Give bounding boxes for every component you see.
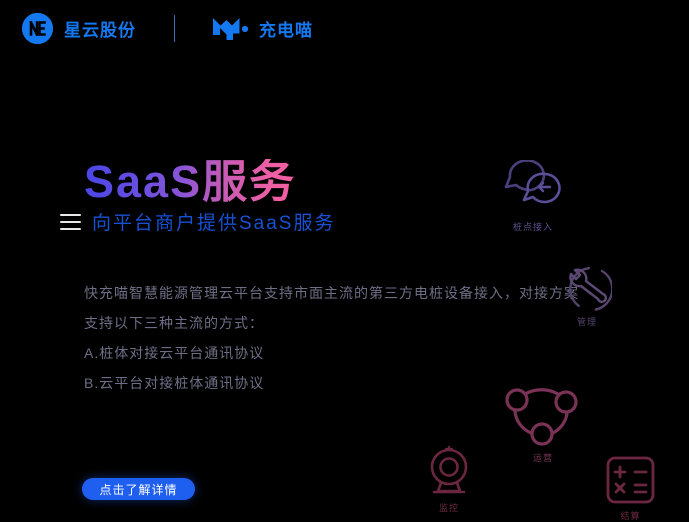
cat-mark-icon bbox=[211, 15, 251, 42]
calculator-settle-icon bbox=[605, 455, 656, 505]
learn-more-button[interactable]: 点击了解详情 bbox=[82, 478, 195, 500]
hamburger-icon[interactable] bbox=[60, 214, 81, 230]
page-subtitle: 向平台商户提供SaaS服务 bbox=[92, 208, 335, 235]
page-title: SaaS服务 bbox=[84, 159, 296, 204]
ne-monogram-icon bbox=[22, 13, 53, 44]
page-header: 星云股份 充电喵 bbox=[0, 0, 689, 56]
network-share-icon bbox=[503, 383, 583, 447]
decoration-settle: 结算 bbox=[605, 455, 656, 522]
brand-primary[interactable]: 星云股份 bbox=[22, 13, 136, 44]
decoration-pile-label: 监控 bbox=[439, 501, 459, 514]
decoration-access: 桩点接入 bbox=[500, 160, 566, 233]
body-paragraph-intro: 快充喵智慧能源管理云平台支持市面主流的第三方电桩设备接入，对接方案支持以下三种主… bbox=[84, 278, 584, 338]
subtitle-row: 向平台商户提供SaaS服务 bbox=[60, 208, 335, 235]
decoration-network-label: 运营 bbox=[533, 451, 553, 464]
brand-secondary-name: 充电喵 bbox=[259, 16, 313, 41]
decoration-manage-label: 管理 bbox=[577, 315, 597, 328]
decoration-access-label: 桩点接入 bbox=[513, 220, 553, 233]
decoration-network: 运营 bbox=[503, 383, 583, 464]
charging-pile-icon bbox=[425, 445, 473, 497]
header-divider bbox=[174, 15, 175, 42]
decoration-settle-label: 结算 bbox=[620, 509, 640, 522]
hero-section: SaaS服务 向平台商户提供SaaS服务 快充喵智慧能源管理云平台支持市面主流的… bbox=[0, 56, 689, 480]
speech-bubbles-access-icon bbox=[500, 160, 566, 216]
brand-primary-name: 星云股份 bbox=[64, 16, 136, 41]
body-copy: 快充喵智慧能源管理云平台支持市面主流的第三方电桩设备接入，对接方案支持以下三种主… bbox=[84, 278, 584, 398]
decoration-manage: 管理 bbox=[562, 263, 612, 328]
wrench-manage-icon bbox=[562, 263, 612, 311]
brand-secondary[interactable]: 充电喵 bbox=[211, 15, 313, 42]
body-paragraph-option-a: A.桩体对接云平台通讯协议 bbox=[84, 338, 584, 368]
